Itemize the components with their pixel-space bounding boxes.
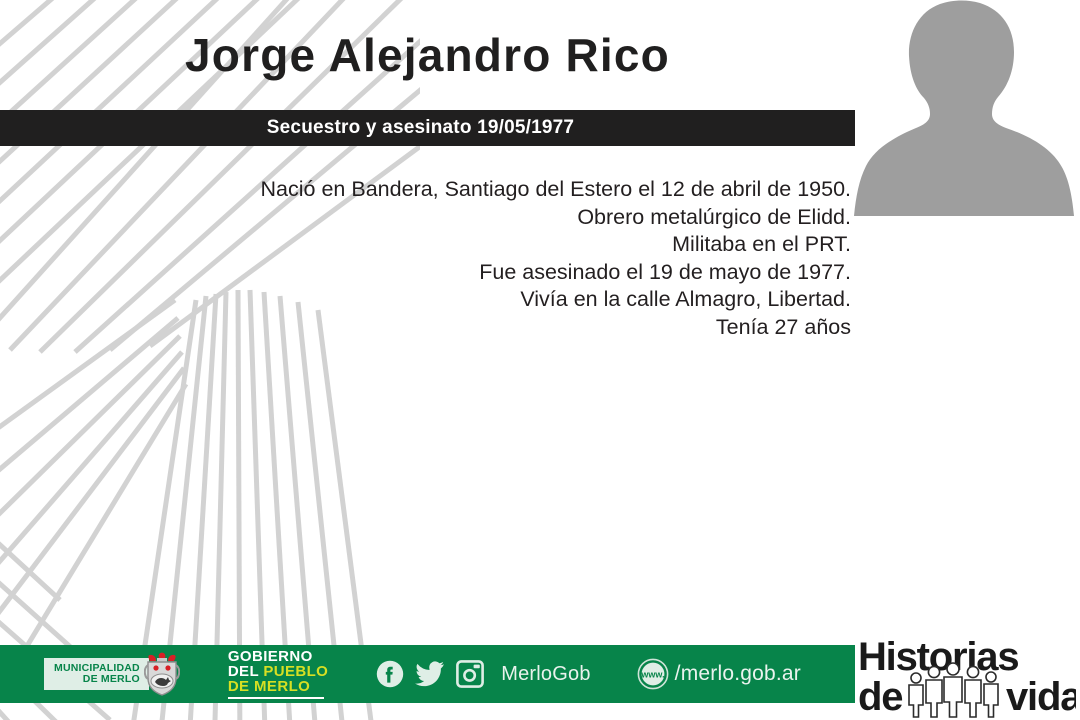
brand-line-2-left: de: [858, 675, 902, 719]
social-handle: MerloGob: [501, 663, 590, 686]
subtitle-text: Secuestro y asesinato 19/05/1977: [267, 117, 588, 139]
merlo-coat-of-arms-icon: [144, 652, 180, 696]
bio-line: Nació en Bandera, Santiago del Estero el…: [0, 176, 851, 204]
municipality-line-2: DE MERLO: [54, 674, 140, 685]
website-link[interactable]: www. /merlo.gob.ar: [637, 658, 801, 690]
website-url: /merlo.gob.ar: [675, 662, 801, 686]
bio-line: Vivía en la calle Almagro, Libertad.: [0, 286, 851, 314]
gobierno-underline: [228, 697, 324, 700]
portrait-placeholder: [848, 0, 1080, 216]
decorative-fan-pattern: [0, 0, 420, 720]
twitter-icon[interactable]: [415, 660, 445, 688]
gobierno-line-1: GOBIERNO: [228, 649, 328, 664]
svg-text:www.: www.: [640, 669, 664, 679]
biography-block: Nació en Bandera, Santiago del Estero el…: [0, 176, 855, 341]
footer-bar: MUNICIPALIDAD DE MERLO GOBIERNO DEL PUEB…: [0, 645, 855, 703]
historias-de-vida-logo: Historias de vida: [854, 632, 1076, 720]
bio-line: Tenía 27 años: [0, 314, 851, 342]
bio-line: Fue asesinado el 19 de mayo de 1977.: [0, 259, 851, 287]
bio-line: Obrero metalúrgico de Elidd.: [0, 204, 851, 232]
gobierno-line-3: DE MERLO: [228, 679, 328, 694]
instagram-icon[interactable]: [456, 660, 484, 688]
municipality-logo[interactable]: MUNICIPALIDAD DE MERLO: [44, 652, 180, 696]
www-globe-icon: www.: [637, 658, 669, 690]
bio-line: Militaba en el PRT.: [0, 231, 851, 259]
gobierno-line-2: DEL PUEBLO: [228, 664, 328, 679]
person-silhouette-icon: [854, 0, 1074, 216]
social-links: MerloGob: [376, 660, 590, 688]
page-title: Jorge Alejandro Rico: [0, 28, 855, 82]
municipality-nameplate: MUNICIPALIDAD DE MERLO: [44, 658, 149, 690]
facebook-icon[interactable]: [376, 660, 404, 688]
gobierno-logo: GOBIERNO DEL PUEBLO DE MERLO: [228, 649, 328, 700]
brand-line-2-right: vida: [1006, 675, 1076, 719]
subtitle-banner: Secuestro y asesinato 19/05/1977: [0, 110, 855, 146]
